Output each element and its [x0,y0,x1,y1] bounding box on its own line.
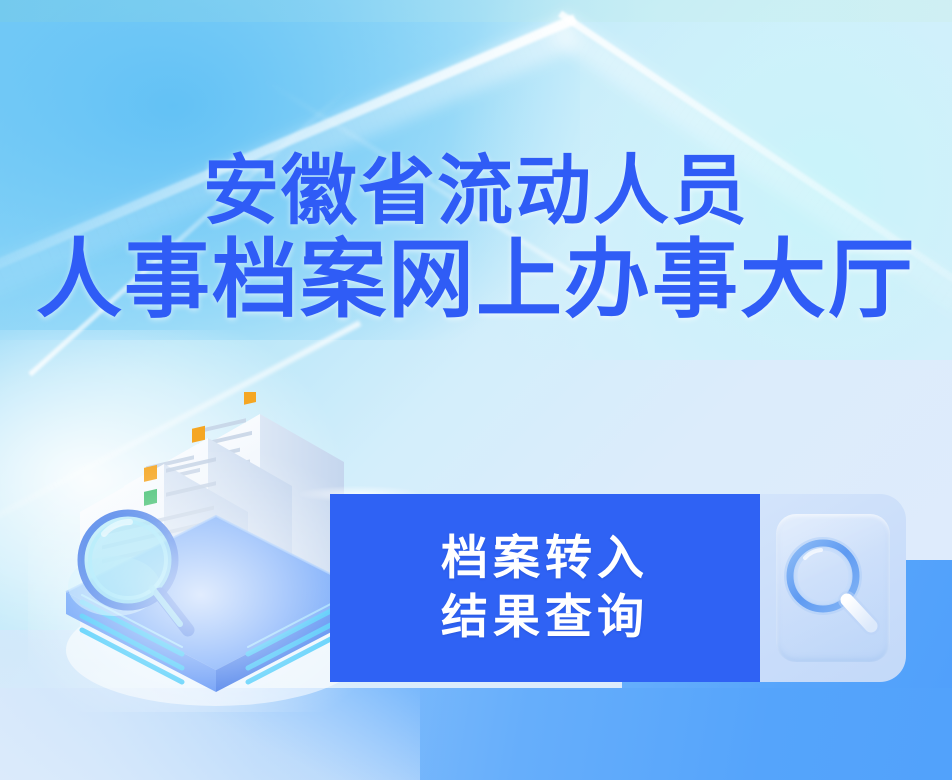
banner-canvas: 安徽省流动人员 人事档案网上办事大厅 [0,0,952,780]
page-title-line-2: 人事档案网上办事大厅 [0,235,952,326]
magnifier-search-icon [779,534,887,642]
page-title-line-1: 安徽省流动人员 [0,152,952,233]
archive-transfer-result-query-button[interactable]: 档案转入 结果查询 [330,494,906,682]
archive-box-documents-magnifier-illustration [48,392,378,722]
action-icon-panel[interactable] [760,494,906,682]
action-label-line-2: 结果查询 [441,588,649,647]
action-label-line-1: 档案转入 [441,529,649,588]
action-label-area[interactable]: 档案转入 结果查询 [330,494,760,682]
page-title: 安徽省流动人员 人事档案网上办事大厅 [0,152,952,326]
